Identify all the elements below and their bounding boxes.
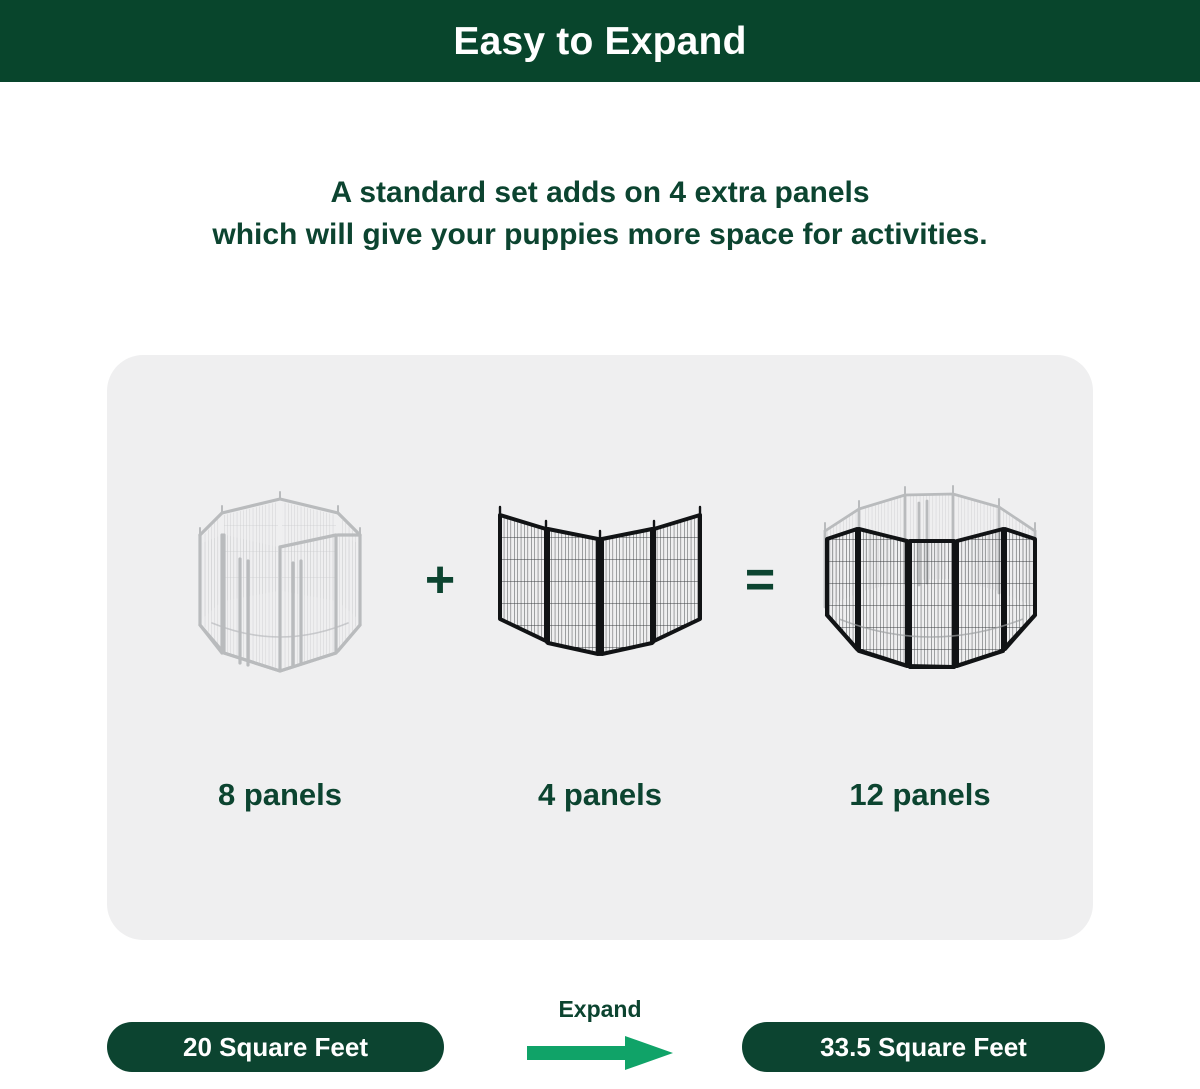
panel-label-8: 8 panels bbox=[155, 777, 405, 813]
panel-label-12: 12 panels bbox=[795, 777, 1045, 813]
plus-icon: + bbox=[425, 554, 455, 606]
equals-operator: = bbox=[725, 554, 795, 606]
playpen-12-panel-icon bbox=[795, 473, 1045, 688]
panel-labels-row: 8 panels 4 panels 12 panels bbox=[107, 770, 1093, 820]
square-feet-badge-after: 33.5 Square Feet bbox=[742, 1022, 1105, 1072]
panel-label-4: 4 panels bbox=[475, 777, 725, 813]
page-title: Easy to Expand bbox=[453, 22, 746, 61]
playpen-8-panel-icon bbox=[160, 473, 400, 688]
arrow-right-icon bbox=[527, 1035, 673, 1071]
playpen-4-panel-illustration bbox=[475, 465, 725, 695]
illustration-card: + bbox=[107, 355, 1093, 940]
subtitle-block: A standard set adds on 4 extra panels wh… bbox=[0, 172, 1200, 256]
subtitle-line-2: which will give your puppies more space … bbox=[0, 214, 1200, 256]
expand-indicator: Expand bbox=[500, 998, 700, 1086]
playpen-8-panel-illustration bbox=[155, 465, 405, 695]
footer-row: 20 Square Feet Expand 33.5 Square Feet bbox=[0, 995, 1200, 1089]
playpen-4-panel-icon bbox=[480, 493, 720, 668]
square-feet-badge-before: 20 Square Feet bbox=[107, 1022, 444, 1072]
subtitle-line-1: A standard set adds on 4 extra panels bbox=[0, 172, 1200, 214]
expand-label: Expand bbox=[558, 998, 641, 1021]
illustration-row: + bbox=[107, 465, 1093, 695]
playpen-12-panel-illustration bbox=[795, 465, 1045, 695]
plus-operator: + bbox=[405, 554, 475, 606]
equals-icon: = bbox=[745, 554, 775, 606]
header-bar: Easy to Expand bbox=[0, 0, 1200, 82]
